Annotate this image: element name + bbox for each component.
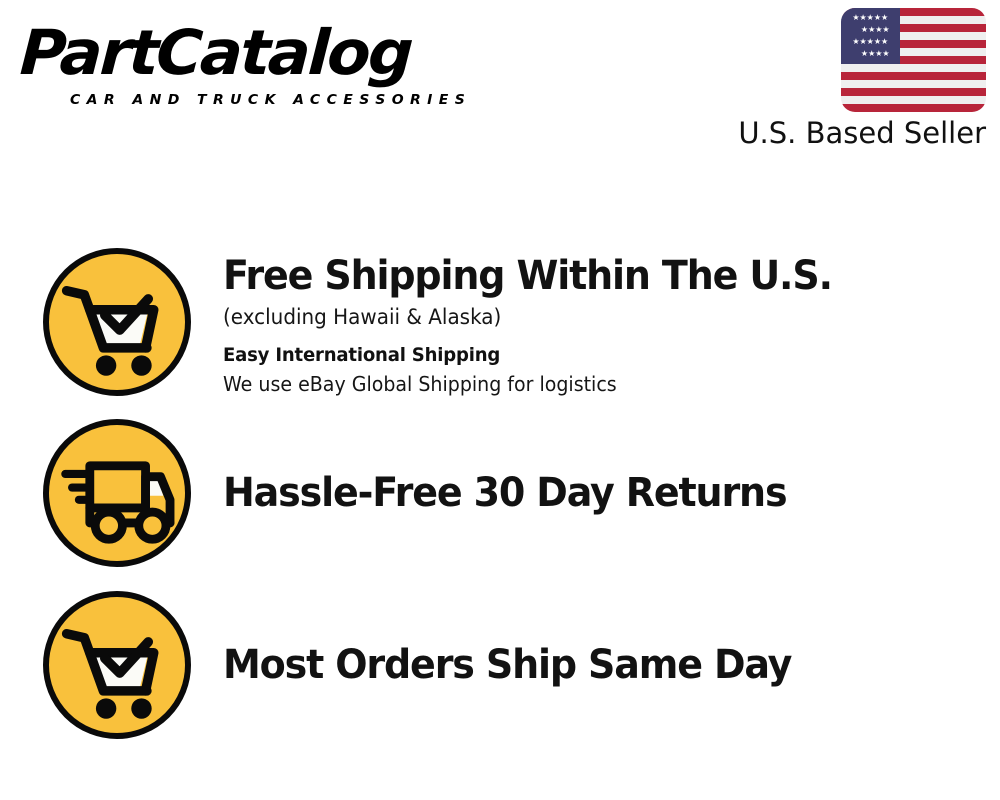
us-flag-icon: ★★★★★ ★★★★ ★★★★★ ★★★★ [841,8,986,112]
delivery-truck-icon [43,419,191,567]
feature-text: Hassle-Free 30 Day Returns [223,469,816,517]
feature-row: Hassle-Free 30 Day Returns [0,419,1000,567]
brand-tagline: CAR AND TRUCK ACCESSORIES [70,92,471,107]
brand-wordmark: PartCatalog [18,20,501,86]
seller-label: U.S. Based Seller [716,116,986,150]
feature-subnote: We use eBay Global Shipping for logistic… [223,370,832,399]
flag-stripe [841,88,986,96]
feature-text: Most Orders Ship Same Day [223,641,821,689]
flag-star-row: ★★★★ [841,50,910,58]
flag-star-row: ★★★★★ [841,14,900,22]
flag-stripe [841,72,986,80]
shopping-cart-check-icon [43,248,191,396]
flag-star-row: ★★★★★ [841,38,900,46]
feature-heading: Hassle-Free 30 Day Returns [223,469,786,517]
brand-logo[interactable]: PartCatalog CAR AND TRUCK ACCESSORIES [22,20,492,115]
seller-badge: ★★★★★ ★★★★ ★★★★★ ★★★★ U.S. Based Seller [716,8,986,150]
shopping-cart-check-icon [43,591,191,739]
flag-stripe [841,104,986,112]
feature-text: Free Shipping Within The U.S. (excluding… [223,248,864,399]
feature-heading: Most Orders Ship Same Day [223,641,791,689]
flag-canton: ★★★★★ ★★★★ ★★★★★ ★★★★ [841,8,900,64]
feature-note: (excluding Hawaii & Alaska) [223,302,832,332]
feature-row: Free Shipping Within The U.S. (excluding… [0,248,1000,399]
flag-star-row: ★★★★ [841,26,910,34]
feature-row: Most Orders Ship Same Day [0,591,1000,739]
feature-heading: Free Shipping Within The U.S. [223,252,832,300]
page-header: PartCatalog CAR AND TRUCK ACCESSORIES ★★… [0,0,1000,175]
feature-subheading: Easy International Shipping [223,340,832,370]
